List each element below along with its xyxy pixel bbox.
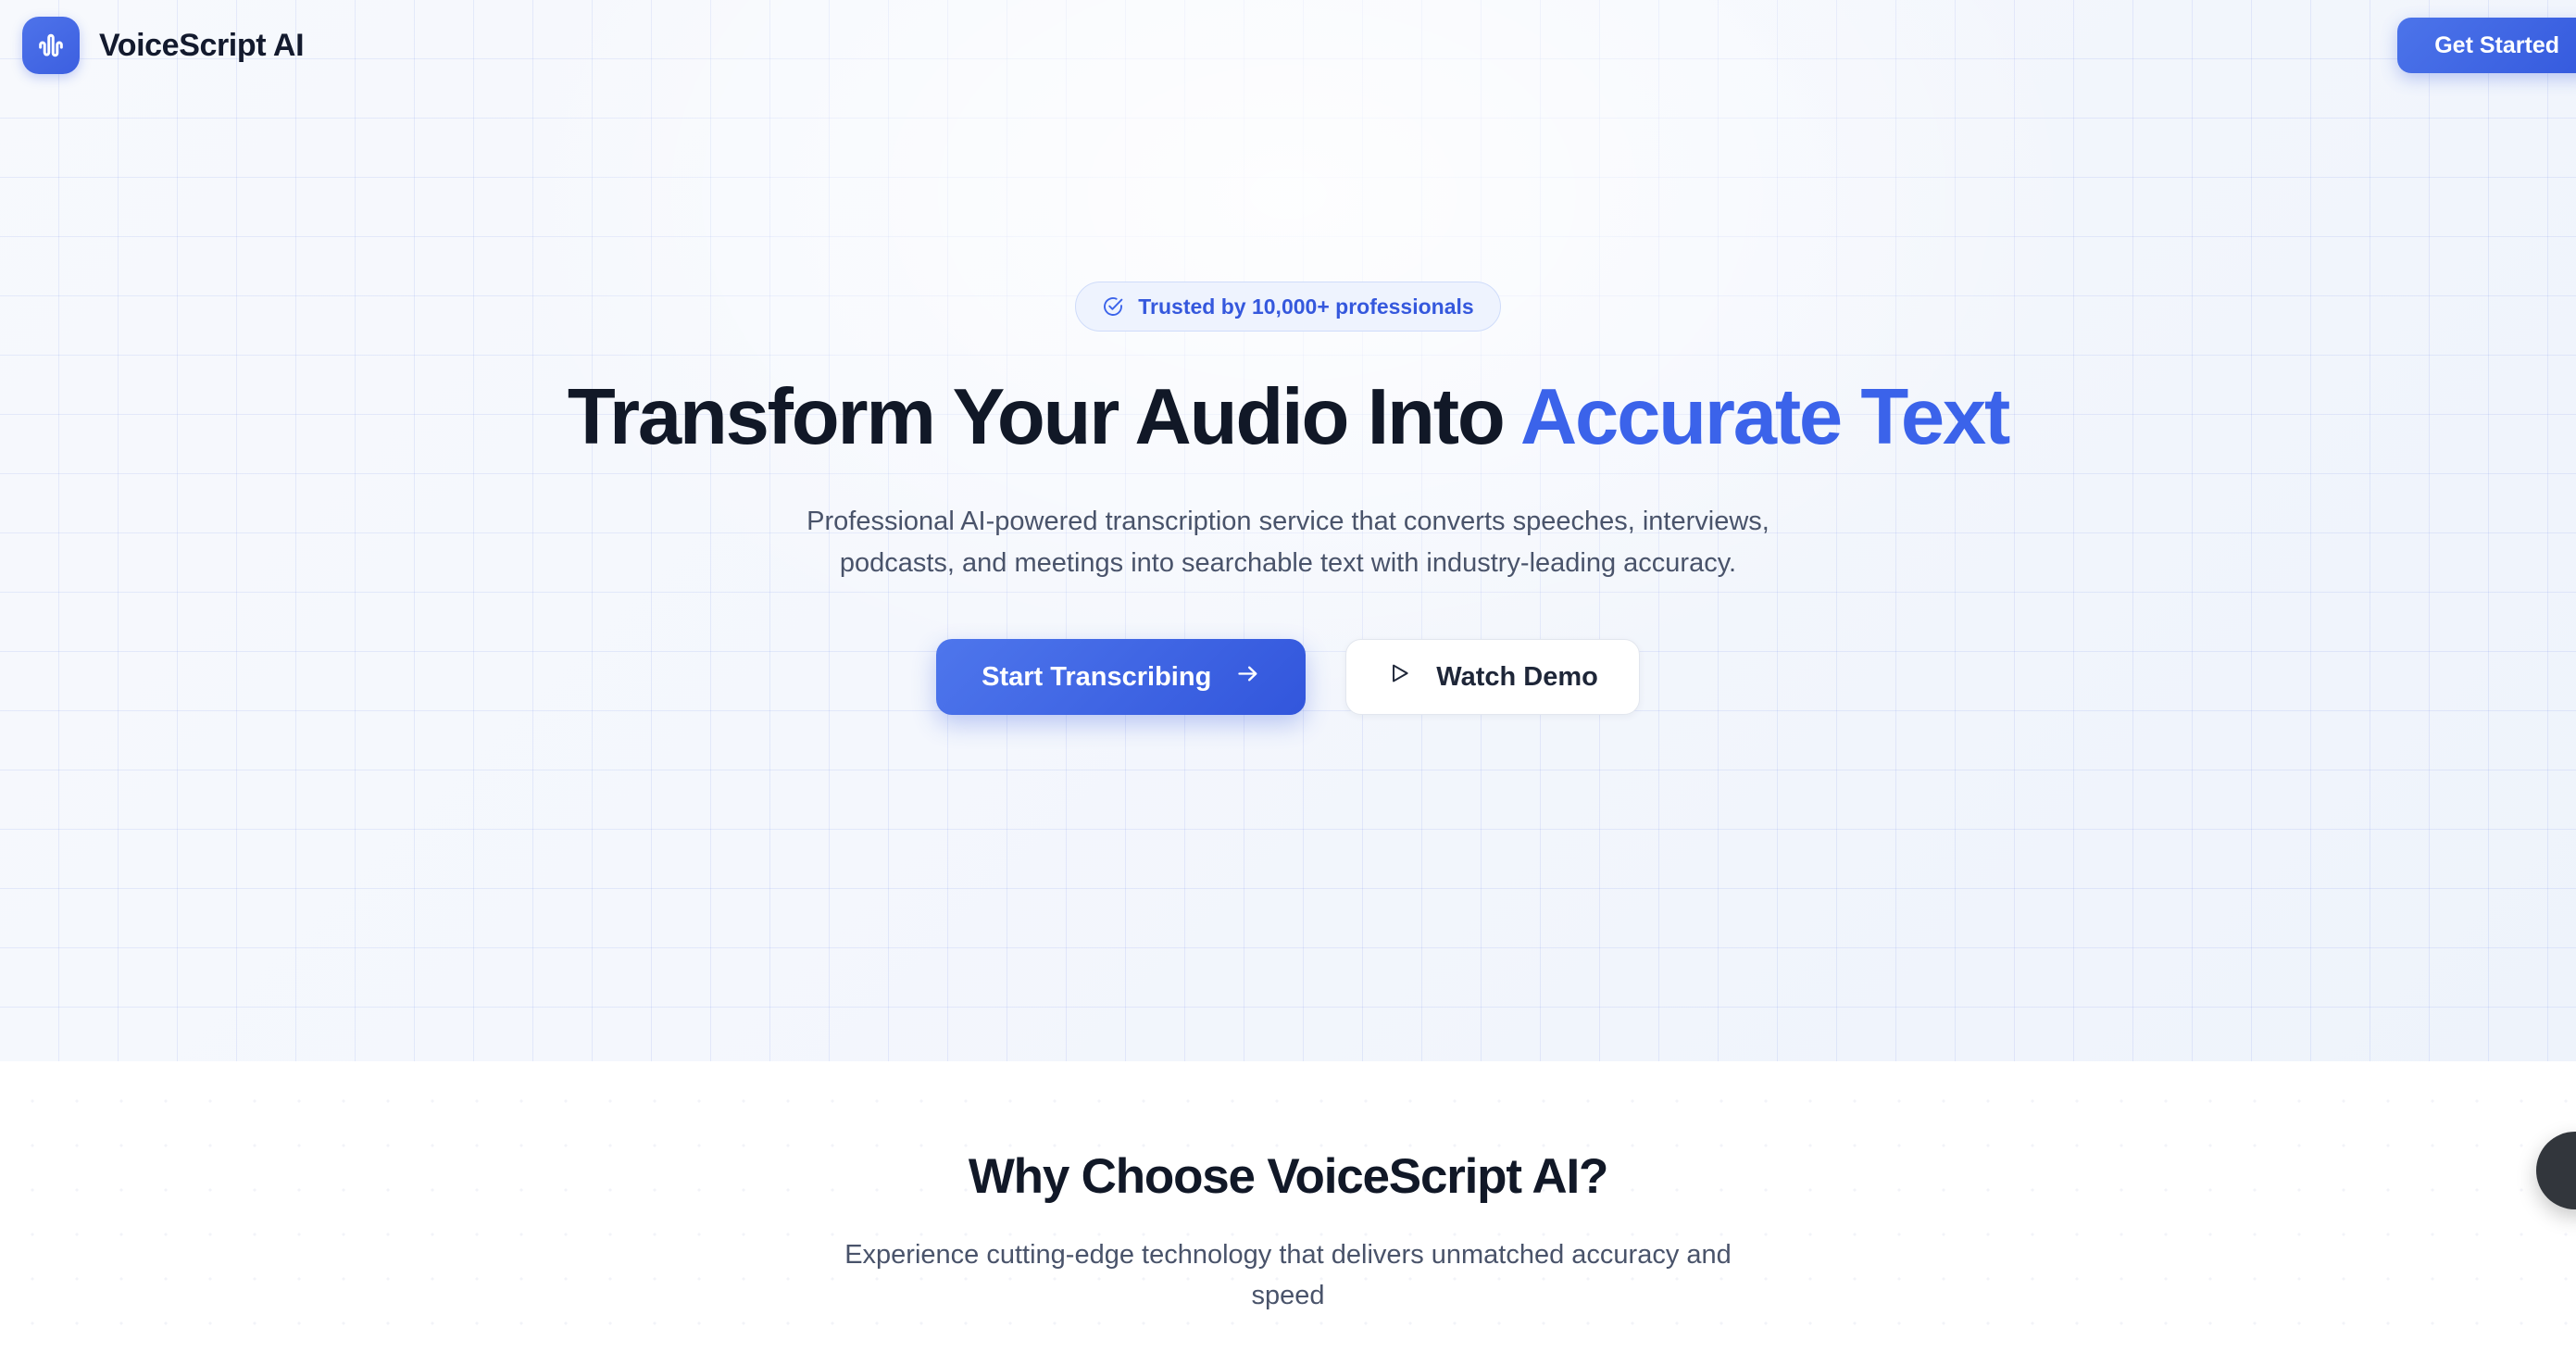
- hero-subheadline: Professional AI-powered transcription se…: [769, 501, 1807, 583]
- brand-logo[interactable]: VoiceScript AI: [22, 17, 304, 74]
- arrow-right-icon: [1235, 661, 1260, 694]
- brand-name: VoiceScript AI: [99, 28, 304, 64]
- landing-page: VoiceScript AI Get Started Trusted by 10…: [0, 0, 2576, 1365]
- features-title: Why Choose VoiceScript AI?: [969, 1148, 1607, 1205]
- page-title: Transform Your Audio Into Accurate Text: [547, 376, 2029, 459]
- trust-badge-label: Trusted by 10,000+ professionals: [1138, 294, 1473, 319]
- hero-content: Trusted by 10,000+ professionals Transfo…: [0, 0, 2576, 1061]
- site-header: VoiceScript AI Get Started: [0, 0, 2576, 91]
- audio-waveform-icon: [22, 17, 80, 74]
- watch-demo-label: Watch Demo: [1436, 662, 1598, 693]
- features-header: Why Choose VoiceScript AI? Experience cu…: [0, 1061, 2576, 1365]
- start-transcribing-button[interactable]: Start Transcribing: [936, 639, 1306, 715]
- check-circle-icon: [1102, 295, 1124, 318]
- get-started-button[interactable]: Get Started: [2397, 18, 2576, 73]
- features-subtitle: Experience cutting-edge technology that …: [811, 1235, 1765, 1316]
- watch-demo-button[interactable]: Watch Demo: [1345, 639, 1640, 715]
- hero-cta-row: Start Transcribing Watch Demo: [936, 639, 1640, 715]
- headline-primary: Transform Your Audio Into: [568, 373, 1520, 461]
- features-section: Why Choose VoiceScript AI? Experience cu…: [0, 1061, 2576, 1365]
- play-triangle-icon: [1387, 661, 1411, 693]
- trust-badge: Trusted by 10,000+ professionals: [1075, 282, 1500, 332]
- headline-accent: Accurate Text: [1520, 373, 2008, 461]
- start-transcribing-label: Start Transcribing: [982, 662, 1211, 693]
